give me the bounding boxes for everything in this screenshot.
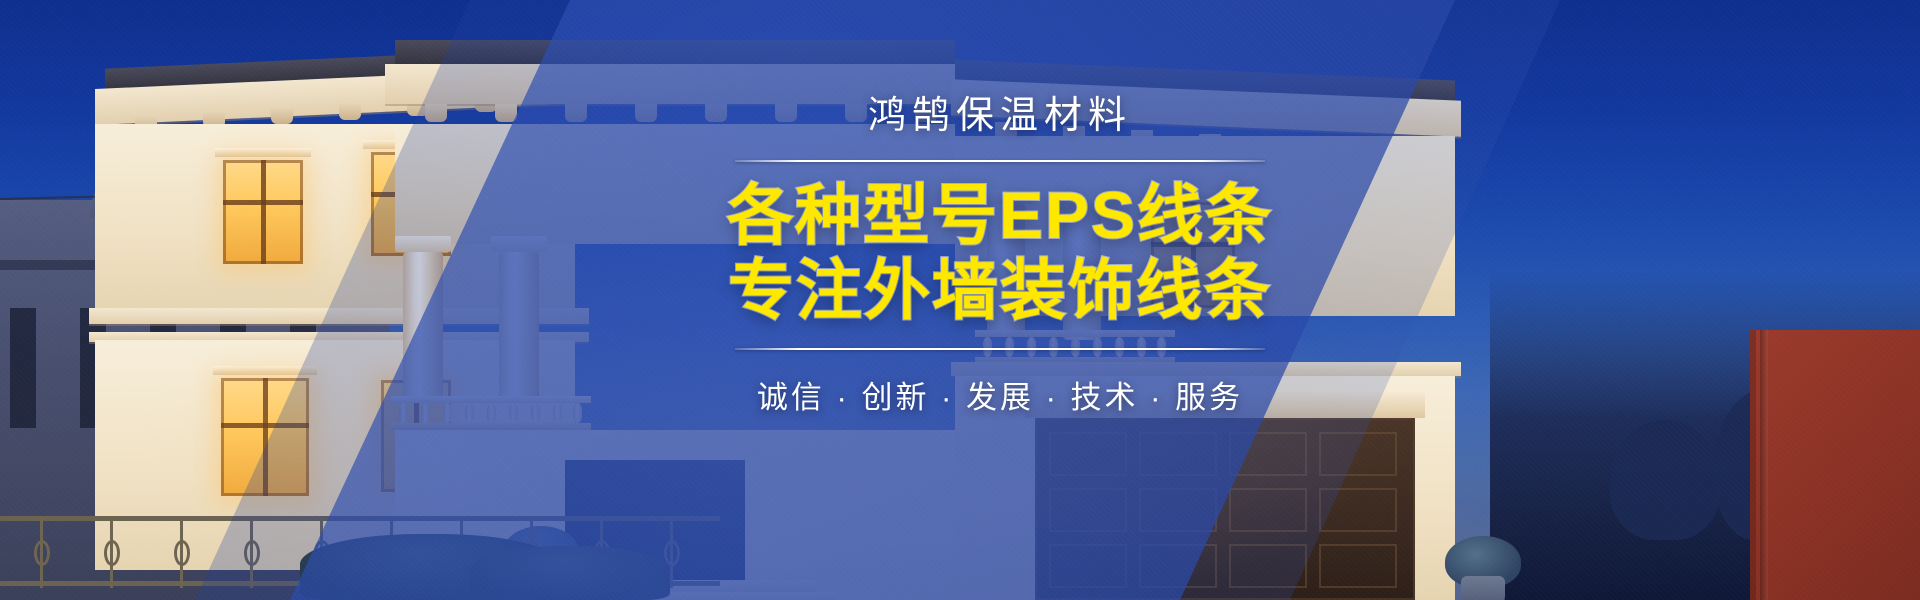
brand-name: 鸿鹄保温材料 bbox=[690, 96, 1310, 138]
banner-content: 鸿鹄保温材料 各种型号EPS线条 专注外墙装饰线条 诚信 · 创新 · 发展 ·… bbox=[690, 96, 1310, 417]
tagline: 诚信 · 创新 · 发展 · 技术 · 服务 bbox=[690, 372, 1310, 417]
divider-bottom bbox=[735, 348, 1265, 350]
window-mullion bbox=[261, 160, 266, 264]
glowing-window bbox=[223, 160, 303, 264]
tree bbox=[1610, 420, 1720, 540]
red-wall bbox=[1750, 330, 1920, 600]
window-hood bbox=[215, 148, 311, 157]
headline-line-2: 专注外墙装饰线条 bbox=[690, 253, 1310, 328]
corbel bbox=[339, 102, 361, 120]
planter-pot bbox=[1461, 576, 1505, 600]
corbel bbox=[271, 106, 293, 124]
headline-line-1: 各种型号EPS线条 bbox=[690, 178, 1310, 253]
background-window bbox=[10, 308, 36, 428]
window-transom bbox=[223, 200, 303, 205]
divider-top bbox=[735, 160, 1265, 162]
hero-banner: 鸿鹄保温材料 各种型号EPS线条 专注外墙装饰线条 诚信 · 创新 · 发展 ·… bbox=[0, 0, 1920, 600]
headline-group: 各种型号EPS线条 专注外墙装饰线条 bbox=[690, 178, 1310, 328]
